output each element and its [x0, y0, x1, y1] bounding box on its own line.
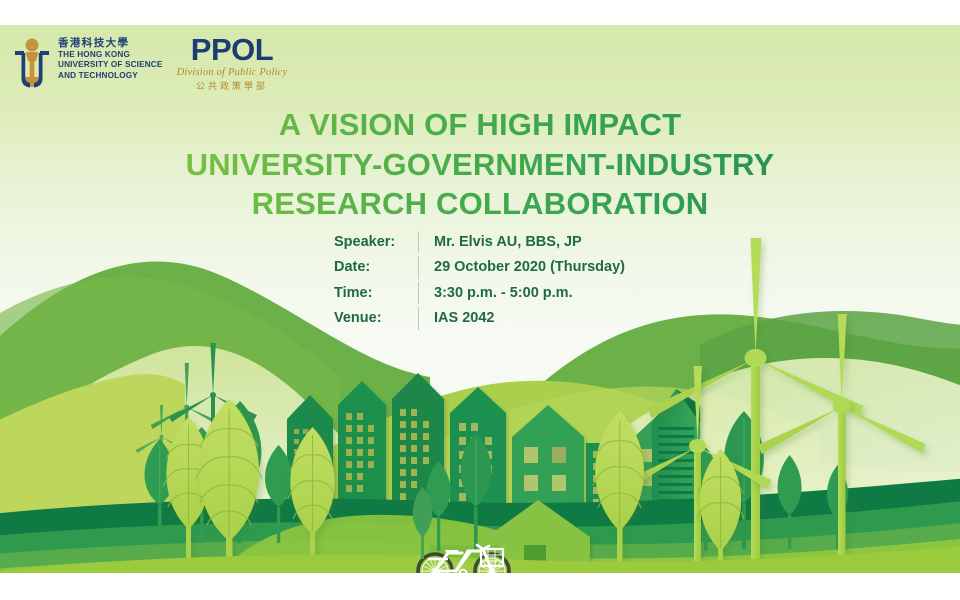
logo-row: 香港科技大學 THE HONG KONG UNIVERSITY OF SCIEN… [0, 25, 960, 95]
title-line-3: RESEARCH COLLABORATION [0, 184, 960, 224]
ppol-logo: PPOL Division of Public Policy 公共政策學部 [172, 35, 292, 97]
title-line-1: A VISION OF HIGH IMPACT [0, 105, 960, 145]
poster-root: 香港科技大學 THE HONG KONG UNIVERSITY OF SCIEN… [0, 0, 960, 600]
hkust-wordmark: 香港科技大學 THE HONG KONG UNIVERSITY OF SCIEN… [58, 37, 162, 82]
ppol-chinese-name: 公共政策學部 [172, 81, 292, 95]
event-details: Speaker: Mr. Elvis AU, BBS, JP Date: 29 … [334, 231, 625, 330]
poster-title: A VISION OF HIGH IMPACT UNIVERSITY-GOVER… [0, 105, 960, 224]
ppol-subtitle: Division of Public Policy [172, 65, 292, 81]
hkust-line-2: UNIVERSITY OF SCIENCE [58, 60, 162, 71]
hkust-crest-icon [12, 37, 52, 89]
detail-label-speaker: Speaker: [334, 231, 418, 253]
detail-value-speaker: Mr. Elvis AU, BBS, JP [419, 231, 625, 253]
detail-label-venue: Venue: [334, 307, 418, 329]
hkust-logo: 香港科技大學 THE HONG KONG UNIVERSITY OF SCIEN… [12, 37, 152, 93]
detail-value-time: 3:30 p.m. - 5:00 p.m. [419, 282, 625, 304]
ppol-wordmark: PPOL [172, 35, 292, 65]
hkust-line-3: AND TECHNOLOGY [58, 71, 162, 82]
detail-value-date: 29 October 2020 (Thursday) [419, 256, 625, 278]
hkust-line-1: THE HONG KONG [58, 50, 162, 61]
title-line-2: UNIVERSITY-GOVERNMENT-INDUSTRY [0, 145, 960, 185]
hkust-chinese-name: 香港科技大學 [58, 38, 162, 50]
detail-value-venue: IAS 2042 [419, 307, 625, 329]
detail-label-time: Time: [334, 282, 418, 304]
detail-label-date: Date: [334, 256, 418, 278]
